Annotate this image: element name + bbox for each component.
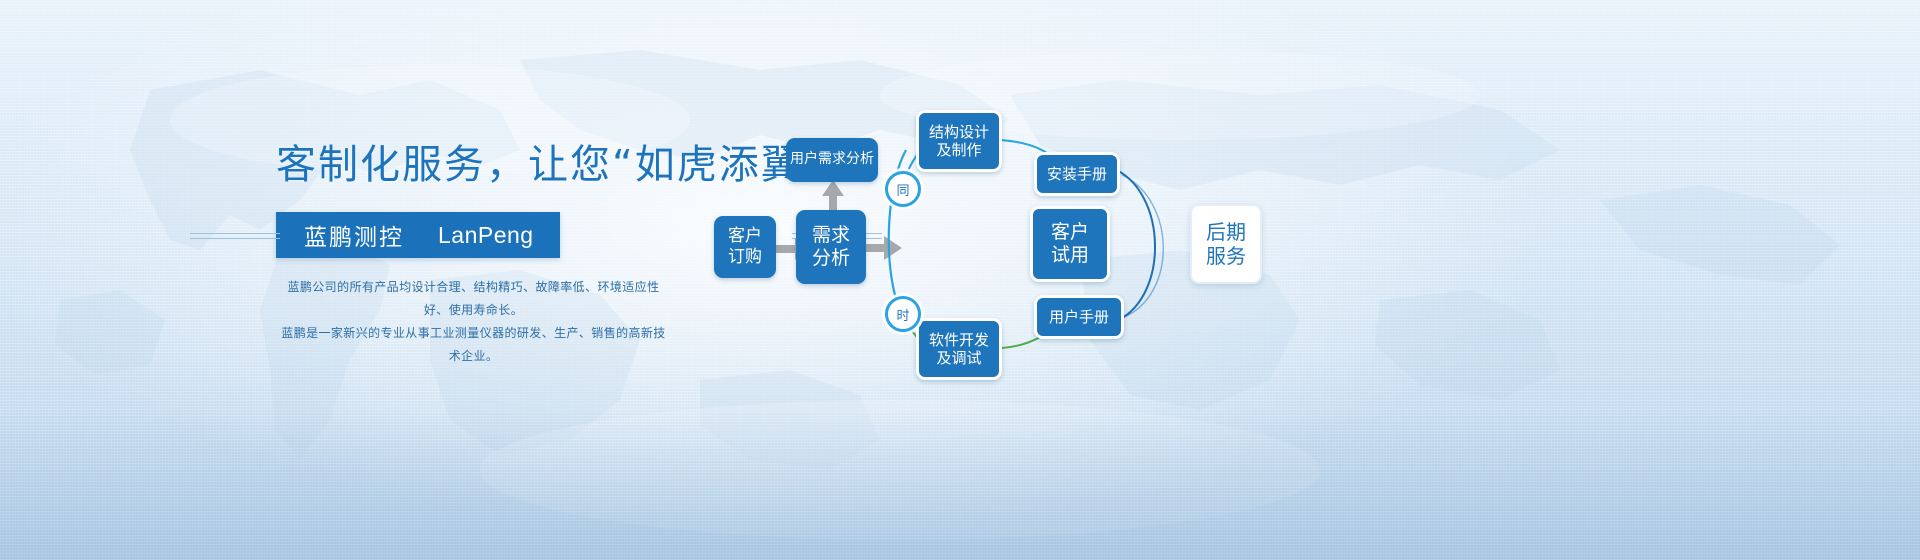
flow-node-installation-manual[interactable]: 安装手册 xyxy=(1034,152,1120,196)
flow-node-customer-trial[interactable]: 客户 试用 xyxy=(1030,206,1110,282)
flow-node-after-sales-service[interactable]: 后期 服务 xyxy=(1190,204,1262,284)
flow-node-customer-order[interactable]: 客户 订购 xyxy=(714,216,776,278)
process-flow-diagram: 用户需求分析 客户 订购 需求 分析 结构设计 及制作 软件开发 及调试 安装手… xyxy=(0,0,1920,560)
flow-badge-tong: 同 xyxy=(885,171,921,207)
flow-node-user-manual[interactable]: 用户手册 xyxy=(1034,295,1124,339)
flow-node-user-requirement-analysis[interactable]: 用户需求分析 xyxy=(786,138,878,182)
flow-node-requirement-analysis[interactable]: 需求 分析 xyxy=(796,210,866,284)
banner-stage: 客制化服务，让您“如虎添翼” 蓝鹏测控 LanPeng 蓝鹏公司的所有产品均设计… xyxy=(0,0,1920,560)
flow-connectors xyxy=(0,0,1920,560)
flow-badge-shi: 时 xyxy=(885,296,921,332)
flow-node-software-development[interactable]: 软件开发 及调试 xyxy=(916,318,1002,380)
flow-node-structural-design[interactable]: 结构设计 及制作 xyxy=(916,110,1002,172)
